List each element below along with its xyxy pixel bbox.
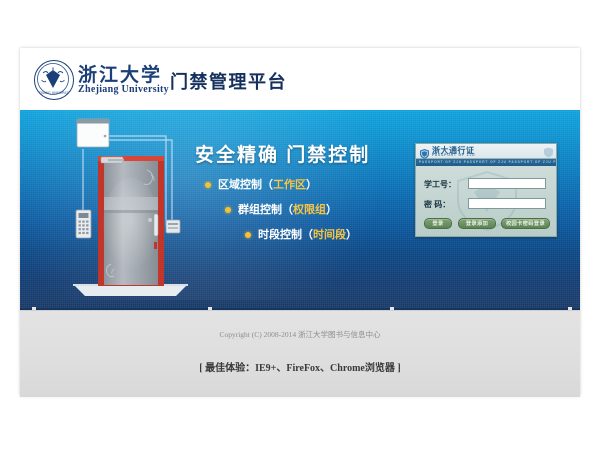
feature-item-group: 群组控制（权限组） — [225, 201, 425, 217]
feature-list: 区域控制（工作区） 群组控制（权限组） 时段控制（时间段） — [205, 176, 425, 251]
student-id-input[interactable] — [468, 178, 546, 189]
svg-text:ZHEJIANG UNIVERSITY: ZHEJIANG UNIVERSITY — [35, 91, 71, 95]
login-panel-header: 浙大通行证 PASSPORT OF ZJU — [416, 144, 556, 159]
feature-label: 群组控制（ — [238, 204, 293, 216]
login-button[interactable]: 登录 — [424, 218, 452, 229]
shield-icon — [420, 146, 429, 156]
site-header: ZHEJIANG UNIVERSITY 浙江大学 Zhejiang Univer… — [20, 48, 580, 110]
university-name-cn: 浙江大学 — [78, 60, 162, 87]
field-password: 密 码： — [416, 198, 556, 210]
password-input[interactable] — [468, 198, 546, 209]
login-button-row: 登录 登录添加 校园卡密码登录 — [416, 218, 556, 231]
feature-label: 区域控制（ — [218, 179, 273, 191]
feature-highlight: 权限组 — [293, 204, 326, 216]
student-id-label: 学工号： — [424, 179, 466, 190]
shield-icon-secondary — [544, 145, 553, 156]
feature-label: 时段控制（ — [258, 229, 313, 241]
zju-seal-icon: ZHEJIANG UNIVERSITY — [34, 60, 74, 100]
page-title: 门禁管理平台 — [170, 68, 287, 94]
login-panel: 浙大通行证 PASSPORT OF ZJU PASSPORT OF ZJU PA… — [415, 143, 557, 237]
login-panel-subtitle: PASSPORT OF ZJU — [432, 153, 475, 157]
logo-wrap[interactable]: ZHEJIANG UNIVERSITY — [34, 60, 74, 100]
password-label: 密 码： — [424, 199, 466, 210]
feature-tail: ） — [346, 229, 357, 241]
login-form: 学工号： 密 码： 登录 登录添加 校园卡密码登录 — [416, 166, 556, 236]
content-card: ZHEJIANG UNIVERSITY 浙江大学 Zhejiang Univer… — [20, 48, 580, 396]
feature-tail: ） — [306, 179, 317, 191]
bullet-dot-icon — [245, 232, 251, 238]
field-student-id: 学工号： — [416, 178, 556, 190]
bullet-dot-icon — [205, 182, 211, 188]
university-name-en: Zhejiang University — [78, 84, 169, 95]
banner-headline: 安全精确 门禁控制 — [195, 140, 370, 167]
feature-highlight: 时间段 — [313, 229, 346, 241]
copyright-text: Copyright (C) 2008-2014 浙江大学图书与信息中心 — [20, 329, 580, 340]
page-root: ZHEJIANG UNIVERSITY 浙江大学 Zhejiang Univer… — [0, 0, 600, 450]
login-watermark: PASSPORT OF ZJU PASSPORT OF ZJU PASSPORT… — [416, 159, 556, 166]
feature-highlight: 工作区 — [273, 179, 306, 191]
feature-item-area: 区域控制（工作区） — [205, 176, 425, 192]
feature-item-time: 时段控制（时间段） — [245, 226, 425, 242]
site-footer: Copyright (C) 2008-2014 浙江大学图书与信息中心 [ 最佳… — [20, 310, 580, 397]
access-control-door-illustration — [48, 114, 218, 304]
campus-card-login-button[interactable]: 校园卡密码登录 — [501, 218, 550, 229]
bullet-dot-icon — [225, 207, 231, 213]
login-add-button[interactable]: 登录添加 — [458, 218, 496, 229]
browser-support-text: [ 最佳体验：IE9+、FireFox、Chrome浏览器 ] — [20, 359, 580, 374]
hero-banner: 安全精确 门禁控制 区域控制（工作区） 群组控制（权限组） 时段控制（时间段） — [20, 110, 580, 310]
feature-tail: ） — [326, 204, 337, 216]
